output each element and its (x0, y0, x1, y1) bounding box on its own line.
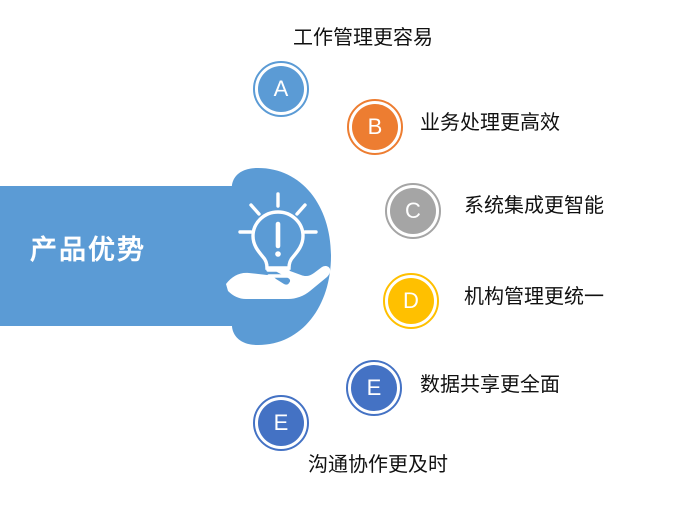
badge-b-letter: B (347, 99, 403, 155)
badge-f[interactable]: E (253, 395, 309, 451)
caption-f: 沟通协作更及时 (308, 453, 448, 477)
badge-d-letter: D (383, 273, 439, 329)
caption-b: 业务处理更高效 (420, 111, 560, 135)
caption-c: 系统集成更智能 (464, 194, 604, 218)
caption-a: 工作管理更容易 (293, 26, 433, 50)
badge-e-letter: E (346, 360, 402, 416)
badge-c-letter: C (385, 183, 441, 239)
badge-a[interactable]: A (253, 61, 309, 117)
caption-e: 数据共享更全面 (420, 373, 560, 397)
badge-e[interactable]: E (346, 360, 402, 416)
caption-d: 机构管理更统一 (464, 285, 604, 309)
badge-d[interactable]: D (383, 273, 439, 329)
banner-title: 产品优势 (30, 234, 200, 266)
badge-b[interactable]: B (347, 99, 403, 155)
badge-a-letter: A (253, 61, 309, 117)
slide-canvas: 产品优势 A 工作管理更容易 (0, 0, 673, 515)
badge-c[interactable]: C (385, 183, 441, 239)
badge-f-letter: E (253, 395, 309, 451)
lightbulb-in-hand-icon (222, 188, 334, 300)
